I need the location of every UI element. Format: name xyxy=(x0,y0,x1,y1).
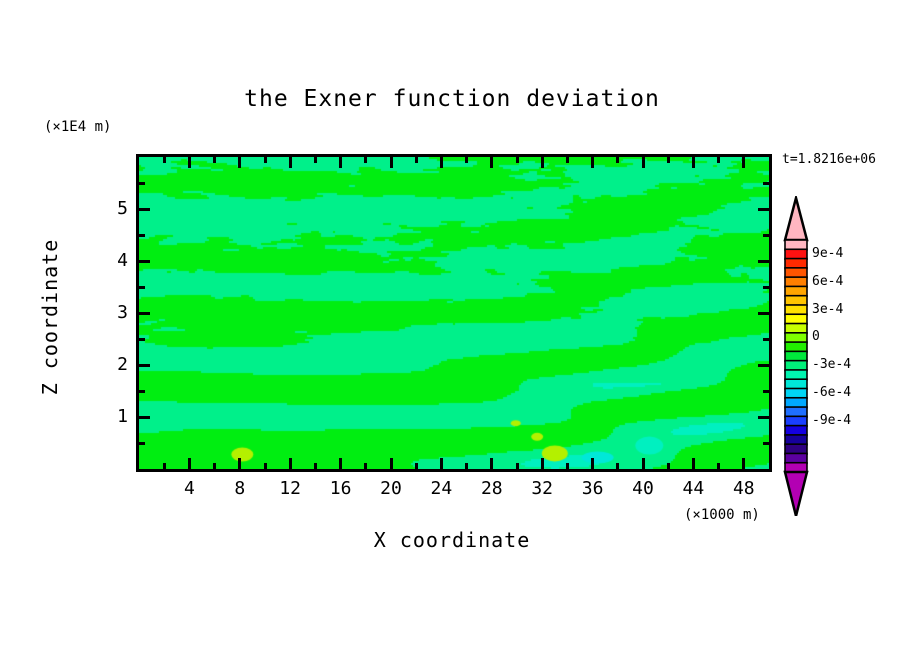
x-tick xyxy=(415,463,418,469)
colorbar-tick-label: 6e-4 xyxy=(812,274,843,289)
x-tick xyxy=(339,458,342,469)
x-tick xyxy=(717,463,720,469)
x-tick xyxy=(642,157,645,168)
colorbar-band xyxy=(785,361,807,371)
x-tick xyxy=(692,157,695,168)
x-tick xyxy=(163,157,166,163)
y-tick xyxy=(139,260,150,263)
colorbar-band xyxy=(785,268,807,278)
colorbar-band xyxy=(785,435,807,445)
y-tick xyxy=(763,442,769,445)
x-tick xyxy=(516,157,519,163)
x-tick xyxy=(364,157,367,163)
y-tick xyxy=(139,416,150,419)
colorbar-band xyxy=(785,370,807,380)
colorbar xyxy=(778,196,818,516)
x-tick xyxy=(516,463,519,469)
colorbar-band xyxy=(785,398,807,408)
y-tick xyxy=(763,286,769,289)
colorbar-band xyxy=(785,324,807,334)
x-tick xyxy=(314,157,317,163)
x-tick xyxy=(339,157,342,168)
x-tick xyxy=(490,157,493,168)
y-tick-label: 3 xyxy=(88,302,128,323)
y-tick xyxy=(139,312,150,315)
colorbar-band xyxy=(785,444,807,454)
x-tick xyxy=(415,157,418,163)
colorbar-tick-label: 9e-4 xyxy=(812,246,843,261)
x-tick xyxy=(742,157,745,168)
colorbar-band xyxy=(785,416,807,426)
colorbar-band xyxy=(785,426,807,436)
contour-field-canvas xyxy=(139,157,769,469)
y-tick xyxy=(139,234,145,237)
x-tick xyxy=(490,458,493,469)
x-tick xyxy=(264,157,267,163)
y-tick xyxy=(763,182,769,185)
colorbar-tick-label: 3e-4 xyxy=(812,302,843,317)
y-tick xyxy=(758,364,769,367)
x-tick xyxy=(213,463,216,469)
x-tick xyxy=(692,458,695,469)
x-tick xyxy=(390,157,393,168)
colorbar-tick-label: 0 xyxy=(812,329,820,344)
y-tick xyxy=(758,312,769,315)
y-tick xyxy=(139,208,150,211)
x-tick xyxy=(541,458,544,469)
y-tick xyxy=(758,416,769,419)
x-tick xyxy=(667,157,670,163)
colorbar-band xyxy=(785,286,807,296)
x-tick xyxy=(541,157,544,168)
x-tick xyxy=(591,157,594,168)
colorbar-band xyxy=(785,351,807,361)
colorbar-band xyxy=(785,407,807,417)
colorbar-band xyxy=(785,259,807,269)
y-tick xyxy=(139,182,145,185)
x-tick xyxy=(390,458,393,469)
colorbar-svg xyxy=(778,196,818,516)
x-tick xyxy=(616,463,619,469)
colorbar-tick-label: -6e-4 xyxy=(812,385,851,400)
colorbar-band xyxy=(785,305,807,315)
colorbar-band xyxy=(785,277,807,287)
x-tick xyxy=(667,463,670,469)
x-tick xyxy=(364,463,367,469)
x-tick xyxy=(289,157,292,168)
y-axis-title: Z coordinate xyxy=(38,207,62,427)
colorbar-band xyxy=(785,240,807,250)
y-tick xyxy=(763,234,769,237)
x-tick xyxy=(642,458,645,469)
x-tick xyxy=(264,463,267,469)
x-tick xyxy=(566,157,569,163)
x-tick xyxy=(188,157,191,168)
colorbar-band xyxy=(785,379,807,389)
x-tick xyxy=(188,458,191,469)
x-tick xyxy=(591,458,594,469)
x-tick xyxy=(742,458,745,469)
y-axis-unit-label: (×1E4 m) xyxy=(44,119,111,135)
y-tick xyxy=(139,338,145,341)
colorbar-band xyxy=(785,333,807,343)
x-tick xyxy=(314,463,317,469)
y-tick xyxy=(139,286,145,289)
y-tick-label: 4 xyxy=(88,250,128,271)
colorbar-band xyxy=(785,296,807,306)
colorbar-bottom-cap xyxy=(785,472,807,516)
x-axis-unit-label: (×1000 m) xyxy=(684,507,760,523)
x-tick xyxy=(289,458,292,469)
x-tick xyxy=(616,157,619,163)
x-tick xyxy=(238,458,241,469)
y-tick xyxy=(139,390,145,393)
y-tick xyxy=(758,260,769,263)
x-tick-label: 48 xyxy=(714,478,774,499)
x-tick xyxy=(566,463,569,469)
x-tick xyxy=(163,463,166,469)
x-tick xyxy=(465,463,468,469)
x-tick xyxy=(465,157,468,163)
colorbar-band xyxy=(785,342,807,352)
y-tick xyxy=(758,208,769,211)
colorbar-top-cap xyxy=(785,198,807,240)
x-tick xyxy=(717,157,720,163)
y-tick xyxy=(763,338,769,341)
colorbar-band xyxy=(785,453,807,463)
x-axis-title: X coordinate xyxy=(0,528,904,552)
contour-plot-area xyxy=(136,154,772,472)
x-tick xyxy=(440,157,443,168)
y-tick xyxy=(763,390,769,393)
colorbar-tick-label: -3e-4 xyxy=(812,357,851,372)
colorbar-band xyxy=(785,249,807,259)
colorbar-band xyxy=(785,388,807,398)
colorbar-tick-label: -9e-4 xyxy=(812,413,851,428)
y-tick xyxy=(139,364,150,367)
time-annotation: t=1.8216e+06 xyxy=(782,152,876,167)
x-tick xyxy=(213,157,216,163)
y-tick-label: 1 xyxy=(88,406,128,427)
y-tick xyxy=(139,442,145,445)
x-tick xyxy=(440,458,443,469)
x-tick xyxy=(238,157,241,168)
y-tick-label: 5 xyxy=(88,198,128,219)
colorbar-band xyxy=(785,314,807,324)
chart-title: the Exner function deviation xyxy=(0,86,904,112)
y-tick-label: 2 xyxy=(88,354,128,375)
